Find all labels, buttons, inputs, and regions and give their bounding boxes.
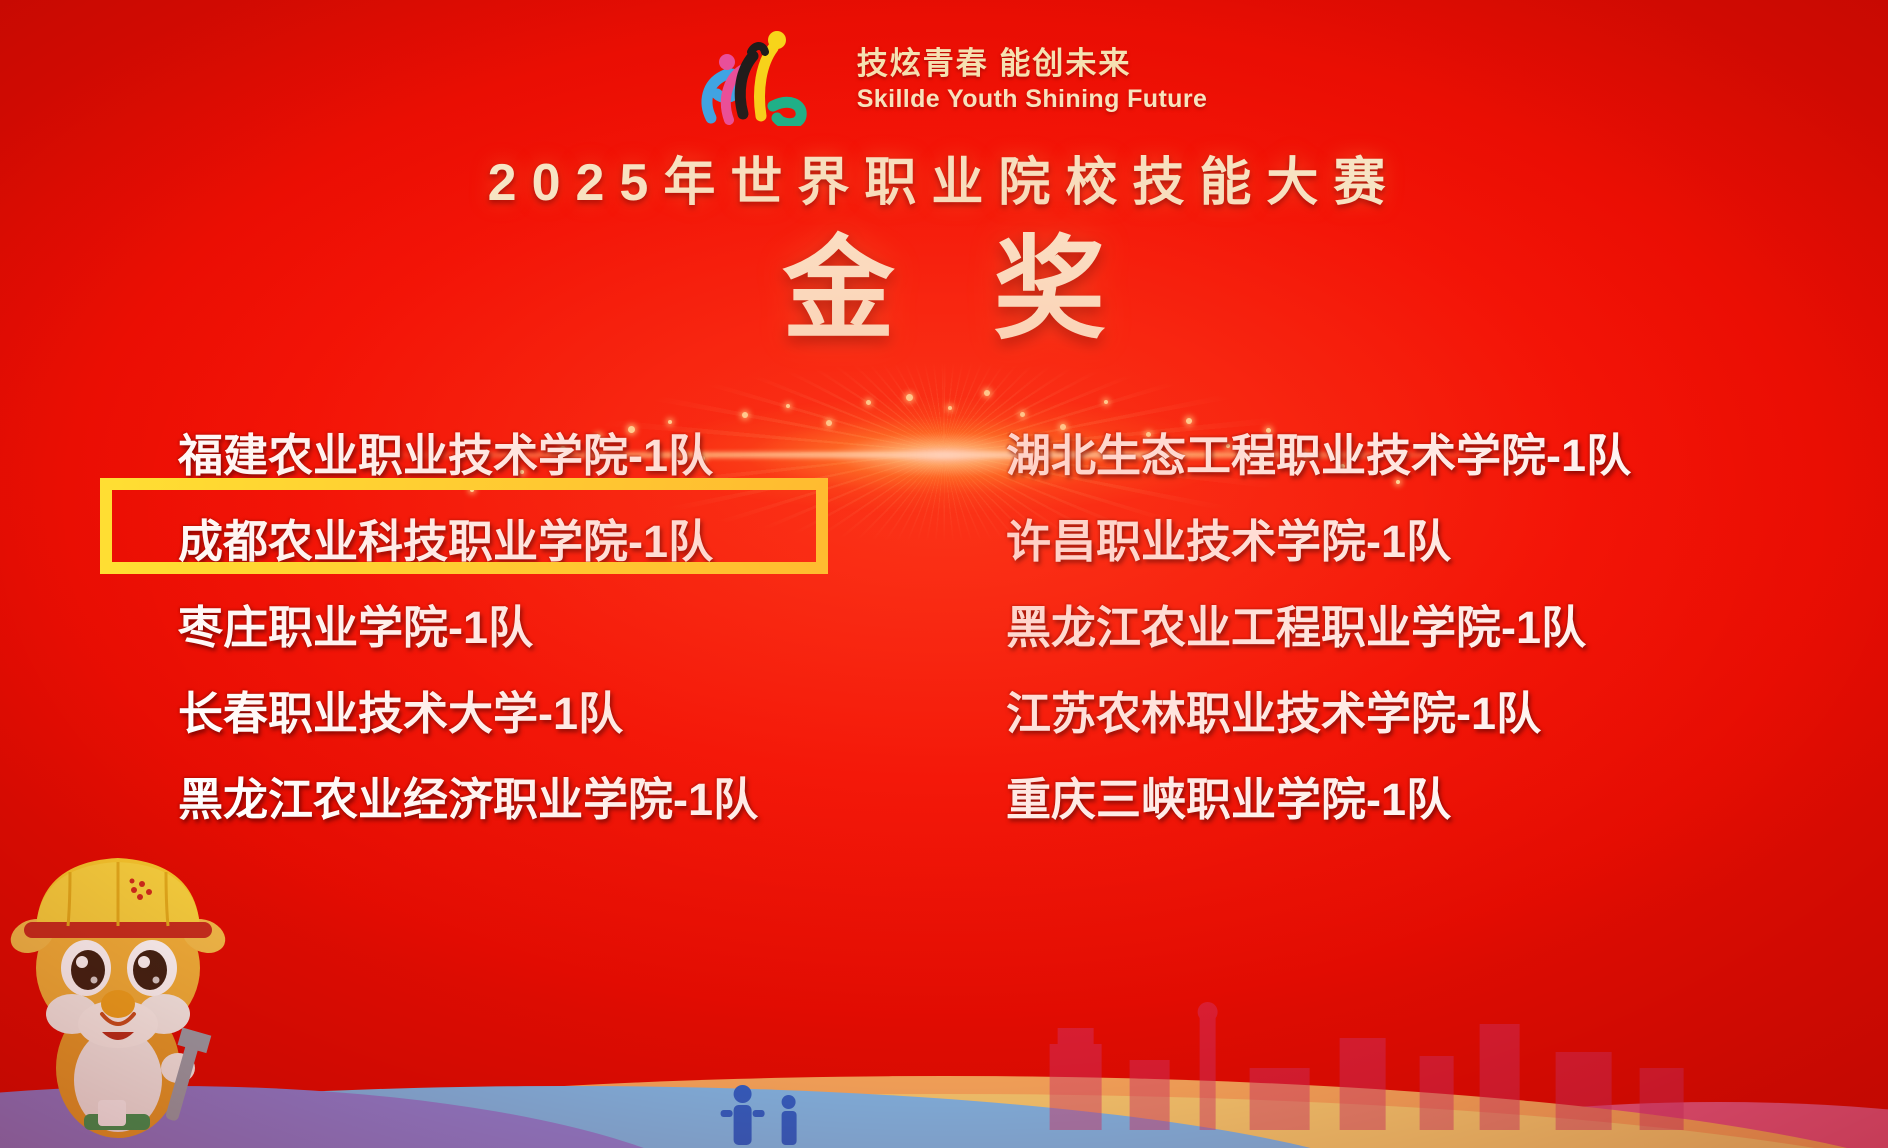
winner-name: 黑龙江农业经济职业学院-1队 — [178, 763, 758, 828]
tagline-english: Skillde Youth Shining Future — [857, 85, 1208, 114]
winners-list: 福建农业职业技术学院-1队成都农业科技职业学院-1队枣庄职业学院-1队长春职业技… — [0, 408, 1888, 838]
wvsc-colorful-logo-icon — [681, 26, 831, 126]
winners-column-left: 福建农业职业技术学院-1队成都农业科技职业学院-1队枣庄职业学院-1队长春职业技… — [0, 408, 944, 838]
winner-name: 福建农业职业技术学院-1队 — [178, 419, 713, 484]
winner-row: 江苏农林职业技术学院-1队 — [944, 666, 1888, 752]
winner-name: 江苏农林职业技术学院-1队 — [1006, 677, 1541, 742]
winner-row: 长春职业技术大学-1队 — [0, 666, 944, 752]
winner-name: 湖北生态工程职业技术学院-1队 — [1006, 419, 1631, 484]
competition-mascot-bird-with-hardhat-icon — [6, 818, 236, 1148]
winner-name: 枣庄职业学院-1队 — [178, 591, 533, 656]
winner-name: 许昌职业技术学院-1队 — [1006, 505, 1451, 570]
winner-row: 成都农业科技职业学院-1队 — [0, 494, 944, 580]
event-title: 2025年世界职业院校技能大赛 — [0, 140, 1888, 215]
tagline-block: 技炫青春 能创未来 Skillde Youth Shining Future — [857, 38, 1208, 114]
award-slide: 技炫青春 能创未来 Skillde Youth Shining Future 2… — [0, 0, 1888, 1148]
winner-row: 黑龙江农业工程职业学院-1队 — [944, 580, 1888, 666]
winner-row: 枣庄职业学院-1队 — [0, 580, 944, 666]
city-skyline-icon — [831, 998, 1888, 1130]
winner-name: 重庆三峡职业学院-1队 — [1006, 763, 1451, 828]
winner-row: 湖北生态工程职业技术学院-1队 — [944, 408, 1888, 494]
tagline-chinese: 技炫青春 能创未来 — [857, 38, 1208, 83]
winner-name: 长春职业技术大学-1队 — [178, 677, 623, 742]
winners-column-right: 湖北生态工程职业技术学院-1队许昌职业技术学院-1队黑龙江农业工程职业学院-1队… — [944, 408, 1888, 838]
winner-row: 许昌职业技术学院-1队 — [944, 494, 1888, 580]
winner-name: 黑龙江农业工程职业学院-1队 — [1006, 591, 1586, 656]
winner-row: 福建农业职业技术学院-1队 — [0, 408, 944, 494]
rainbow-city-band — [0, 998, 1888, 1148]
winner-row: 重庆三峡职业学院-1队 — [944, 752, 1888, 838]
winner-name: 成都农业科技职业学院-1队 — [178, 505, 713, 570]
award-heading: 金 奖 — [0, 228, 1888, 351]
brand-header: 技炫青春 能创未来 Skillde Youth Shining Future — [0, 26, 1888, 126]
